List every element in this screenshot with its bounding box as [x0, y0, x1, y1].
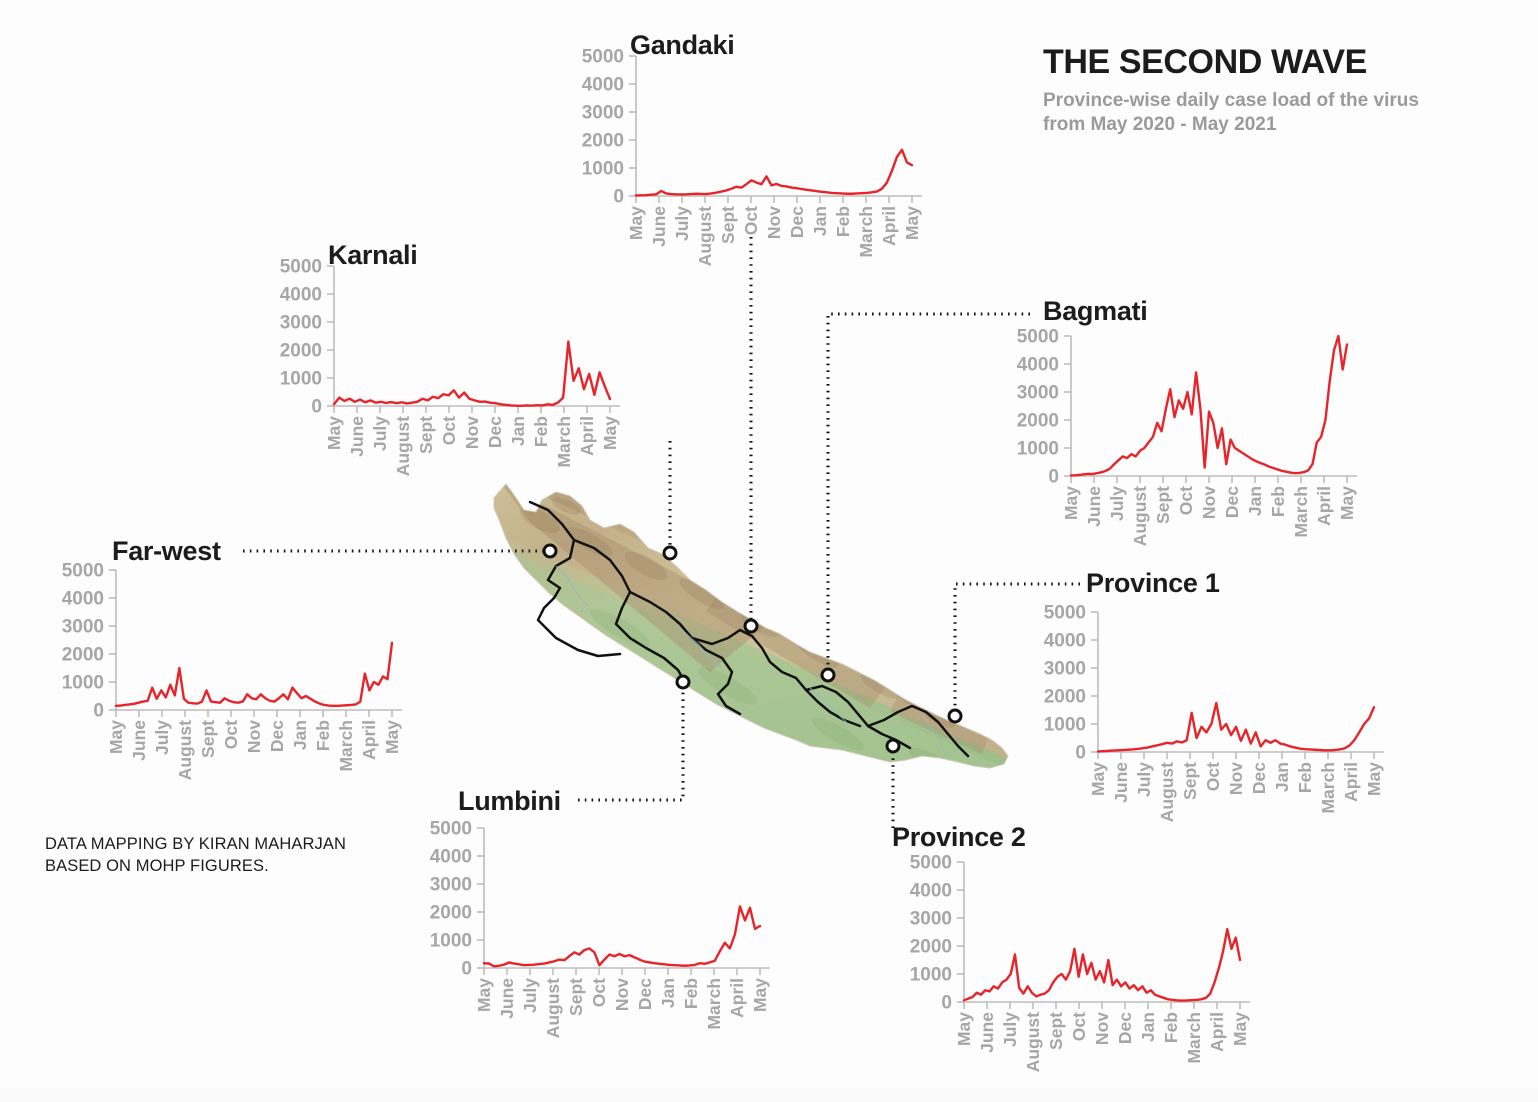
x-tick-label: August — [175, 720, 195, 780]
y-tick-label: 2000 — [1044, 687, 1086, 708]
x-tick-label: Nov — [764, 206, 784, 239]
x-tick-label: March — [1318, 762, 1338, 814]
x-tick-label: August — [393, 416, 413, 476]
x-tick-label: May — [750, 978, 770, 1012]
chart-plot-province-1: 500040003000200010000MayJuneJulyAugustSe… — [1022, 606, 1388, 838]
x-tick-label: Feb — [531, 416, 551, 447]
bottom-band — [0, 1088, 1538, 1102]
y-tick-label: 0 — [941, 993, 952, 1014]
x-tick-label: May — [954, 1012, 974, 1046]
x-tick-label: Dec — [485, 416, 505, 448]
y-tick-label: 4000 — [1044, 631, 1086, 652]
x-tick-label: May — [600, 416, 620, 450]
y-tick-label: 5000 — [1017, 327, 1059, 348]
x-tick-label: Feb — [313, 720, 333, 751]
y-tick-label: 1000 — [1044, 715, 1086, 736]
x-tick-label: Sept — [566, 978, 586, 1016]
y-tick-label: 2000 — [910, 937, 952, 958]
x-tick-label: July — [1107, 486, 1127, 521]
x-tick-label: Sept — [416, 416, 436, 454]
chart-svg: 500040003000200010000MayJuneJulyAugustSe… — [1022, 606, 1388, 838]
x-tick-label: Feb — [1268, 486, 1288, 517]
credits-line-1: DATA MAPPING BY KIRAN MAHARJAN — [45, 833, 375, 855]
x-tick-label: Nov — [612, 978, 632, 1011]
y-tick-label: 3000 — [62, 617, 104, 638]
x-tick-label: March — [1291, 486, 1311, 538]
x-tick-label: April — [1207, 1012, 1227, 1052]
x-tick-label: Dec — [1222, 486, 1242, 518]
y-tick-label: 2000 — [582, 131, 624, 152]
y-tick-label: 1000 — [62, 673, 104, 694]
y-tick-label: 1000 — [280, 369, 322, 390]
x-tick-label: March — [704, 978, 724, 1030]
y-tick-label: 2000 — [1017, 411, 1059, 432]
x-tick-label: Feb — [1161, 1012, 1181, 1043]
y-tick-label: 0 — [461, 959, 472, 980]
x-tick-label: Nov — [462, 416, 482, 449]
chart-svg: 500040003000200010000MayJuneJulyAugustSe… — [888, 856, 1254, 1088]
chart-panel-province-1: Province 1 500040003000200010000MayJuneJ… — [1022, 568, 1452, 783]
x-tick-label: Oct — [221, 720, 241, 749]
map-svg — [470, 462, 1015, 792]
x-tick-label: Oct — [1069, 1012, 1089, 1041]
x-tick-label: June — [977, 1012, 997, 1053]
x-tick-label: May — [106, 720, 126, 754]
x-tick-label: July — [672, 206, 692, 241]
x-tick-label: Oct — [1203, 762, 1223, 791]
x-tick-label: Dec — [635, 978, 655, 1010]
x-tick-label: August — [695, 206, 715, 266]
y-tick-label: 2000 — [430, 903, 472, 924]
x-tick-label: May — [1230, 1012, 1250, 1046]
y-tick-label: 4000 — [430, 847, 472, 868]
series-line-lumbini — [484, 906, 760, 966]
x-tick-label: April — [1314, 486, 1334, 526]
x-tick-label: May — [382, 720, 402, 754]
chart-plot-lumbini: 500040003000200010000MayJuneJulyAugustSe… — [408, 822, 774, 1054]
y-tick-label: 5000 — [62, 561, 104, 582]
chart-svg: 500040003000200010000MayJuneJulyAugustSe… — [258, 260, 624, 492]
header-block: THE SECOND WAVE Province-wise daily case… — [1043, 45, 1463, 137]
chart-panel-lumbini: Lumbini 500040003000200010000MayJuneJuly… — [408, 786, 828, 1001]
y-tick-label: 0 — [93, 701, 104, 722]
chart-svg: 500040003000200010000MayJuneJulyAugustSe… — [995, 330, 1361, 562]
x-tick-label: Nov — [1226, 762, 1246, 795]
x-tick-label: Jan — [1245, 486, 1265, 516]
x-tick-label: Jan — [658, 978, 678, 1008]
x-tick-label: July — [520, 978, 540, 1013]
y-tick-label: 0 — [613, 187, 624, 208]
chart-title-far-west: Far-west — [112, 536, 221, 567]
chart-panel-gandaki: Gandaki 500040003000200010000MayJuneJuly… — [560, 30, 980, 240]
chart-svg: 500040003000200010000MayJuneJulyAugustSe… — [40, 564, 406, 796]
y-tick-label: 3000 — [430, 875, 472, 896]
x-tick-label: Dec — [267, 720, 287, 752]
infographic-canvas: THE SECOND WAVE Province-wise daily case… — [0, 0, 1538, 1102]
x-tick-label: Dec — [1115, 1012, 1135, 1044]
x-tick-label: Oct — [439, 416, 459, 445]
series-line-bagmati — [1071, 336, 1347, 475]
x-tick-label: May — [626, 206, 646, 240]
x-tick-label: April — [359, 720, 379, 760]
chart-plot-province-2: 500040003000200010000MayJuneJulyAugustSe… — [888, 856, 1254, 1088]
x-tick-label: Jan — [1272, 762, 1292, 792]
chart-plot-bagmati: 500040003000200010000MayJuneJulyAugustSe… — [995, 330, 1361, 562]
x-tick-label: Dec — [787, 206, 807, 238]
x-tick-label: July — [152, 720, 172, 755]
x-tick-label: Jan — [508, 416, 528, 446]
x-tick-label: Jan — [1138, 1012, 1158, 1042]
x-tick-label: Sept — [1180, 762, 1200, 800]
x-tick-label: Feb — [1295, 762, 1315, 793]
x-tick-label: Sept — [1153, 486, 1173, 524]
x-tick-label: Feb — [833, 206, 853, 237]
map-terrain — [470, 462, 1015, 792]
page-subtitle: Province-wise daily case load of the vir… — [1043, 89, 1438, 138]
chart-title-province-2: Province 2 — [892, 822, 1026, 853]
x-tick-label: Sept — [718, 206, 738, 244]
x-tick-label: May — [1337, 486, 1357, 520]
y-tick-label: 3000 — [1017, 383, 1059, 404]
x-tick-label: August — [1023, 1012, 1043, 1072]
x-tick-label: July — [1134, 762, 1154, 797]
y-tick-label: 0 — [1075, 743, 1086, 764]
x-tick-label: Sept — [1046, 1012, 1066, 1050]
x-tick-label: April — [1341, 762, 1361, 802]
x-tick-label: March — [554, 416, 574, 468]
x-tick-label: June — [497, 978, 517, 1019]
chart-panel-bagmati: Bagmati 500040003000200010000MayJuneJuly… — [995, 296, 1425, 511]
y-tick-label: 5000 — [430, 819, 472, 840]
x-tick-label: August — [543, 978, 563, 1038]
x-tick-label: July — [370, 416, 390, 451]
x-tick-label: May — [1061, 486, 1081, 520]
chart-svg: 500040003000200010000MayJuneJulyAugustSe… — [408, 822, 774, 1054]
y-tick-label: 4000 — [910, 881, 952, 902]
x-tick-label: March — [856, 206, 876, 258]
y-tick-label: 1000 — [582, 159, 624, 180]
y-tick-label: 4000 — [582, 75, 624, 96]
y-tick-label: 5000 — [280, 257, 322, 278]
series-line-far-west — [116, 643, 392, 706]
y-tick-label: 0 — [311, 397, 322, 418]
x-tick-label: Jan — [290, 720, 310, 750]
x-tick-label: Nov — [244, 720, 264, 753]
x-tick-label: March — [1184, 1012, 1204, 1064]
x-tick-label: Feb — [681, 978, 701, 1009]
series-line-province-1 — [1098, 703, 1374, 751]
x-tick-label: Oct — [741, 206, 761, 235]
y-tick-label: 0 — [1048, 467, 1059, 488]
x-tick-label: Oct — [1176, 486, 1196, 515]
chart-plot-far-west: 500040003000200010000MayJuneJulyAugustSe… — [40, 564, 406, 796]
chart-panel-karnali: Karnali 500040003000200010000MayJuneJuly… — [258, 240, 678, 450]
y-tick-label: 5000 — [582, 47, 624, 68]
x-tick-label: June — [1084, 486, 1104, 527]
x-tick-label: May — [474, 978, 494, 1012]
x-tick-label: March — [336, 720, 356, 772]
y-tick-label: 4000 — [1017, 355, 1059, 376]
nepal-map — [470, 462, 1015, 792]
x-tick-label: April — [879, 206, 899, 246]
x-tick-label: May — [1364, 762, 1384, 796]
x-tick-label: June — [129, 720, 149, 761]
x-tick-label: April — [577, 416, 597, 456]
credits-block: DATA MAPPING BY KIRAN MAHARJAN BASED ON … — [45, 833, 375, 878]
x-tick-label: June — [1111, 762, 1131, 803]
chart-title-bagmati: Bagmati — [1043, 296, 1147, 327]
x-tick-label: July — [1000, 1012, 1020, 1047]
y-tick-label: 2000 — [62, 645, 104, 666]
y-tick-label: 1000 — [430, 931, 472, 952]
y-tick-label: 3000 — [910, 909, 952, 930]
y-tick-label: 5000 — [1044, 603, 1086, 624]
credits-line-2: BASED ON MOHP FIGURES. — [45, 855, 375, 877]
y-tick-label: 3000 — [582, 103, 624, 124]
x-tick-label: Dec — [1249, 762, 1269, 794]
x-tick-label: June — [347, 416, 367, 457]
x-tick-label: August — [1130, 486, 1150, 546]
x-tick-label: May — [324, 416, 344, 450]
x-tick-label: May — [902, 206, 922, 240]
x-tick-label: Oct — [589, 978, 609, 1007]
page-title: THE SECOND WAVE — [1043, 45, 1463, 81]
chart-plot-karnali: 500040003000200010000MayJuneJulyAugustSe… — [258, 260, 624, 492]
x-tick-label: Jan — [810, 206, 830, 236]
y-tick-label: 4000 — [62, 589, 104, 610]
y-tick-label: 3000 — [1044, 659, 1086, 680]
x-tick-label: Sept — [198, 720, 218, 758]
series-line-province-2 — [964, 929, 1240, 1000]
x-tick-label: April — [727, 978, 747, 1018]
x-tick-label: Nov — [1199, 486, 1219, 519]
x-tick-label: Nov — [1092, 1012, 1112, 1045]
x-tick-label: August — [1157, 762, 1177, 822]
series-line-gandaki — [636, 150, 912, 196]
chart-title-province-1: Province 1 — [1086, 568, 1220, 599]
y-tick-label: 3000 — [280, 313, 322, 334]
chart-panel-province-2: Province 2 500040003000200010000MayJuneJ… — [888, 822, 1308, 1037]
y-tick-label: 1000 — [910, 965, 952, 986]
y-tick-label: 2000 — [280, 341, 322, 362]
chart-title-lumbini: Lumbini — [458, 786, 561, 817]
y-tick-label: 1000 — [1017, 439, 1059, 460]
x-tick-label: May — [1088, 762, 1108, 796]
y-tick-label: 5000 — [910, 853, 952, 874]
series-line-karnali — [334, 342, 610, 406]
y-tick-label: 4000 — [280, 285, 322, 306]
chart-panel-far-west: Far-west 500040003000200010000MayJuneJul… — [40, 536, 460, 751]
